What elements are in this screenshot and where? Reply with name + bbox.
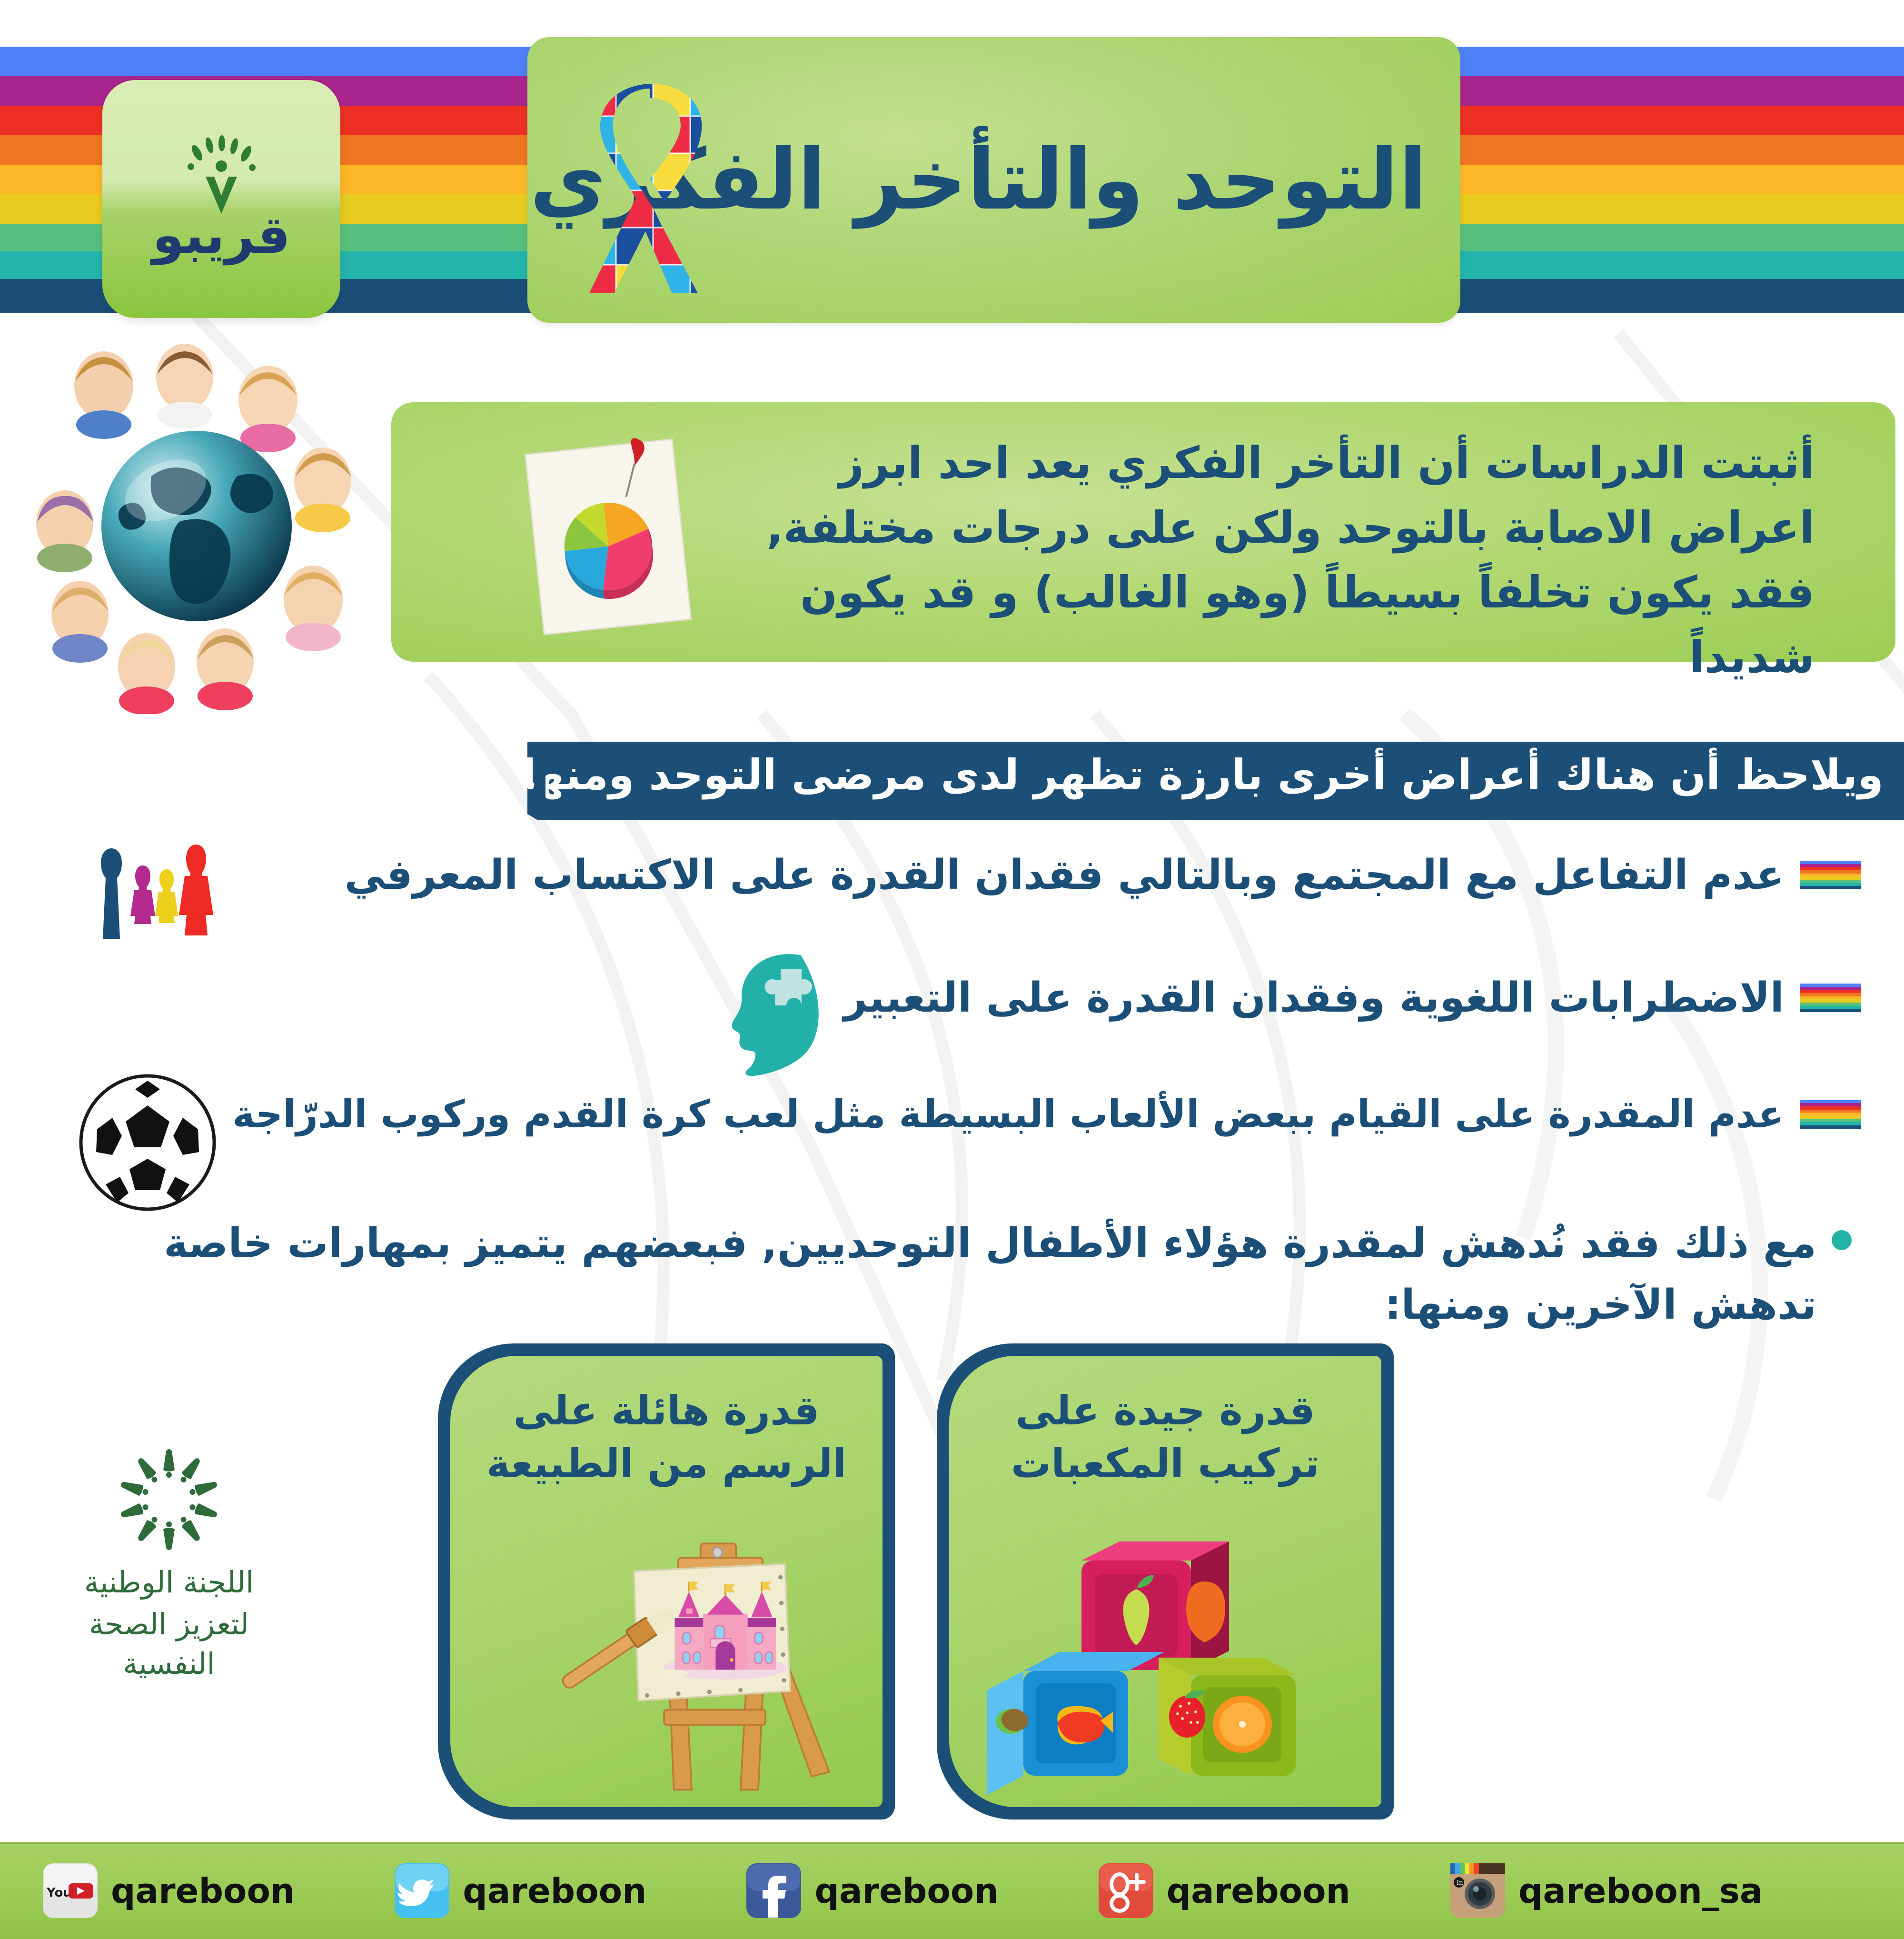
twitter-icon: [395, 1863, 449, 1918]
social-footer: You Tube qareboon qareboon qareboon: [0, 1842, 1904, 1939]
rainbow-bar-bullet: [1800, 1100, 1861, 1129]
social-handle: qareboon: [463, 1871, 646, 1911]
svg-text:In: In: [1457, 1879, 1463, 1887]
autism-puzzle-ribbon-icon: [579, 79, 726, 298]
section-banner-text: ويلاحظ أن هناك أعراض أخرى بارزة تظهر لدى…: [505, 750, 1884, 799]
skill-card-title: قدرة هائلة على الرسم من الطبيعة: [472, 1384, 861, 1490]
symptom-text: الاضطرابات اللغوية وفقدان القدرة على الت…: [843, 974, 1784, 1022]
closing-paragraph-row: مع ذلك فقد نُدهش لمقدرة هؤلاء الأطفال ال…: [48, 1213, 1852, 1336]
google-plus-icon: [1099, 1863, 1153, 1918]
skill-card-title: قدرة جيدة على تركيب المكعبات: [971, 1384, 1359, 1490]
skill-card-body: قدرة هائلة على الرسم من الطبيعة: [450, 1356, 883, 1807]
youtube-icon: You Tube: [43, 1863, 98, 1918]
qareboon-logo[interactable]: قريبو: [102, 80, 340, 318]
intro-paragraph: أثبتت الدراسات أن التأخر الفكري يعد احد …: [720, 431, 1815, 690]
national-committee-star-icon: [117, 1447, 221, 1552]
children-around-globe-photo: [9, 333, 394, 714]
social-account-youtube[interactable]: You Tube qareboon: [43, 1863, 295, 1918]
instagram-icon: In: [1450, 1863, 1505, 1918]
head-puzzle-icon: [719, 952, 847, 1078]
easel-painting-icon: [492, 1532, 883, 1799]
social-handle: qareboon: [1167, 1871, 1350, 1911]
closing-paragraph: مع ذلك فقد نُدهش لمقدرة هؤلاء الأطفال ال…: [48, 1213, 1816, 1336]
facebook-icon: [746, 1863, 801, 1918]
soccer-ball-icon: [76, 1071, 219, 1214]
rainbow-bar-bullet: [1800, 984, 1861, 1012]
symptom-row: الاضطرابات اللغوية وفقدان القدرة على الت…: [843, 974, 1861, 1022]
svg-text:You: You: [46, 1886, 72, 1900]
pinned-note-pie-chart-icon: [509, 427, 714, 641]
committee-line-1: اللجنة الوطنية: [57, 1562, 281, 1602]
section-banner: ويلاحظ أن هناك أعراض أخرى بارزة تظهر لدى…: [527, 742, 1904, 820]
rainbow-bar-bullet: [1800, 861, 1861, 889]
social-account-googleplus[interactable]: qareboon: [1099, 1863, 1350, 1918]
intro-card: أثبتت الدراسات أن التأخر الفكري يعد احد …: [391, 402, 1895, 662]
social-account-facebook[interactable]: qareboon: [746, 1863, 998, 1918]
social-handle: qareboon: [814, 1871, 998, 1911]
family-people-icon: [95, 842, 252, 944]
skill-card-body: قدرة جيدة على تركيب المكعبات: [949, 1356, 1381, 1807]
social-handle: qareboon: [111, 1871, 295, 1911]
social-handle: qareboon_sa: [1518, 1871, 1763, 1911]
people-sprout-icon: [176, 133, 267, 216]
logo-wordmark: قريبو: [152, 206, 290, 265]
skill-card-drawing[interactable]: قدرة هائلة على الرسم من الطبيعة: [438, 1343, 895, 1820]
skill-card-blocks[interactable]: قدرة جيدة على تركيب المكعبات: [937, 1343, 1394, 1820]
social-account-twitter[interactable]: qareboon: [395, 1863, 646, 1918]
symptom-text: عدم المقدرة على القيام ببعض الألعاب البس…: [232, 1092, 1784, 1136]
social-account-instagram[interactable]: In qareboon_sa: [1450, 1863, 1763, 1918]
symptom-row: عدم التفاعل مع المجتمع وبالتالي فقدان ال…: [345, 851, 1861, 899]
committee-line-2: لتعزيز الصحة النفسية: [57, 1604, 281, 1684]
symptom-text: عدم التفاعل مع المجتمع وبالتالي فقدان ال…: [345, 851, 1784, 899]
infographic-poster: قريبو: [0, 0, 1904, 1939]
footer-divider: [0, 1842, 1904, 1844]
national-committee-block: اللجنة الوطنية لتعزيز الصحة النفسية: [57, 1447, 281, 1684]
title-card: التوحد والتأخر الفكري: [527, 37, 1460, 323]
symptom-row: عدم المقدرة على القيام ببعض الألعاب البس…: [232, 1092, 1861, 1136]
toy-blocks-icon: [962, 1532, 1381, 1799]
teal-dot-bullet: [1832, 1230, 1852, 1250]
